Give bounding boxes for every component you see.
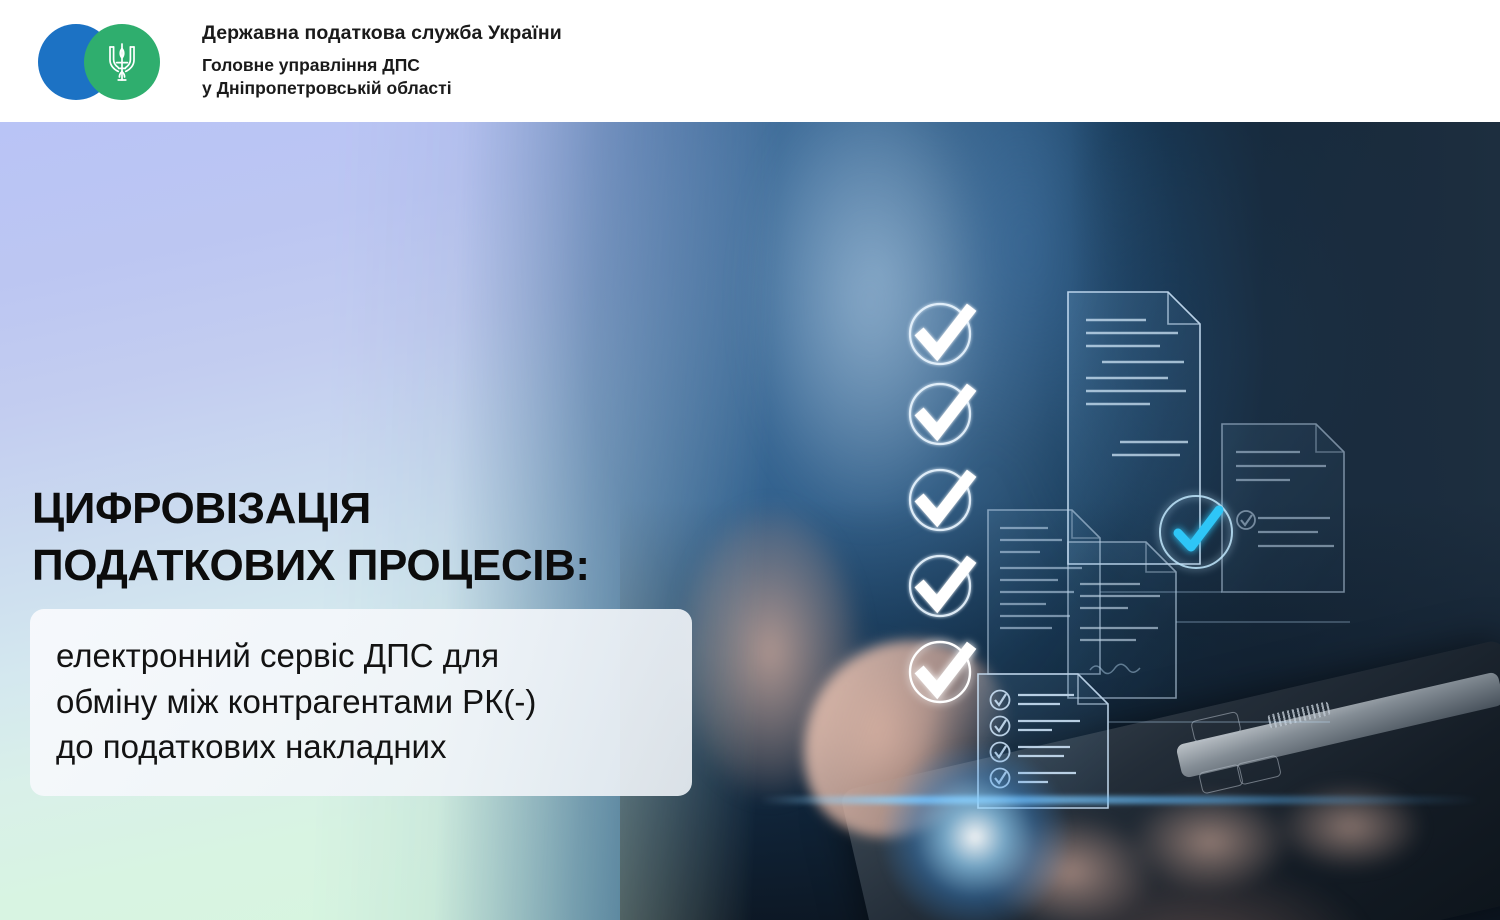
- org-name-line-1: Державна податкова служба України: [202, 22, 562, 44]
- header-bar: Державна податкова служба України Головн…: [0, 0, 1500, 122]
- org-name-line-3: у Дніпропетровській області: [202, 77, 562, 100]
- ukraine-trident-icon: [105, 40, 139, 84]
- subtitle-line-1: електронний сервіс ДПС для: [56, 633, 666, 679]
- organization-name-block: Державна податкова служба України Головн…: [202, 22, 562, 100]
- headline-line-2: ПОДАТКОВИХ ПРОЦЕСІВ:: [32, 537, 590, 594]
- hand-fingers-lower: [960, 782, 1430, 920]
- logo-green-circle-icon: [84, 24, 160, 100]
- subtitle-line-3: до податкових накладних: [56, 724, 666, 770]
- org-name-line-2: Головне управління ДПС: [202, 54, 562, 77]
- poster: ЦИФРОВІЗАЦІЯ ПОДАТКОВИХ ПРОЦЕСІВ: електр…: [0, 0, 1500, 920]
- headline-line-1: ЦИФРОВІЗАЦІЯ: [32, 484, 371, 533]
- subtitle-card: електронний сервіс ДПС для обміну між ко…: [30, 609, 692, 796]
- page-title: ЦИФРОВІЗАЦІЯ ПОДАТКОВИХ ПРОЦЕСІВ:: [32, 480, 590, 594]
- organization-logo: [38, 22, 188, 100]
- hero-image: ЦИФРОВІЗАЦІЯ ПОДАТКОВИХ ПРОЦЕСІВ: електр…: [0, 122, 1500, 920]
- subtitle-line-2: обміну між контрагентами РК(-): [56, 679, 666, 725]
